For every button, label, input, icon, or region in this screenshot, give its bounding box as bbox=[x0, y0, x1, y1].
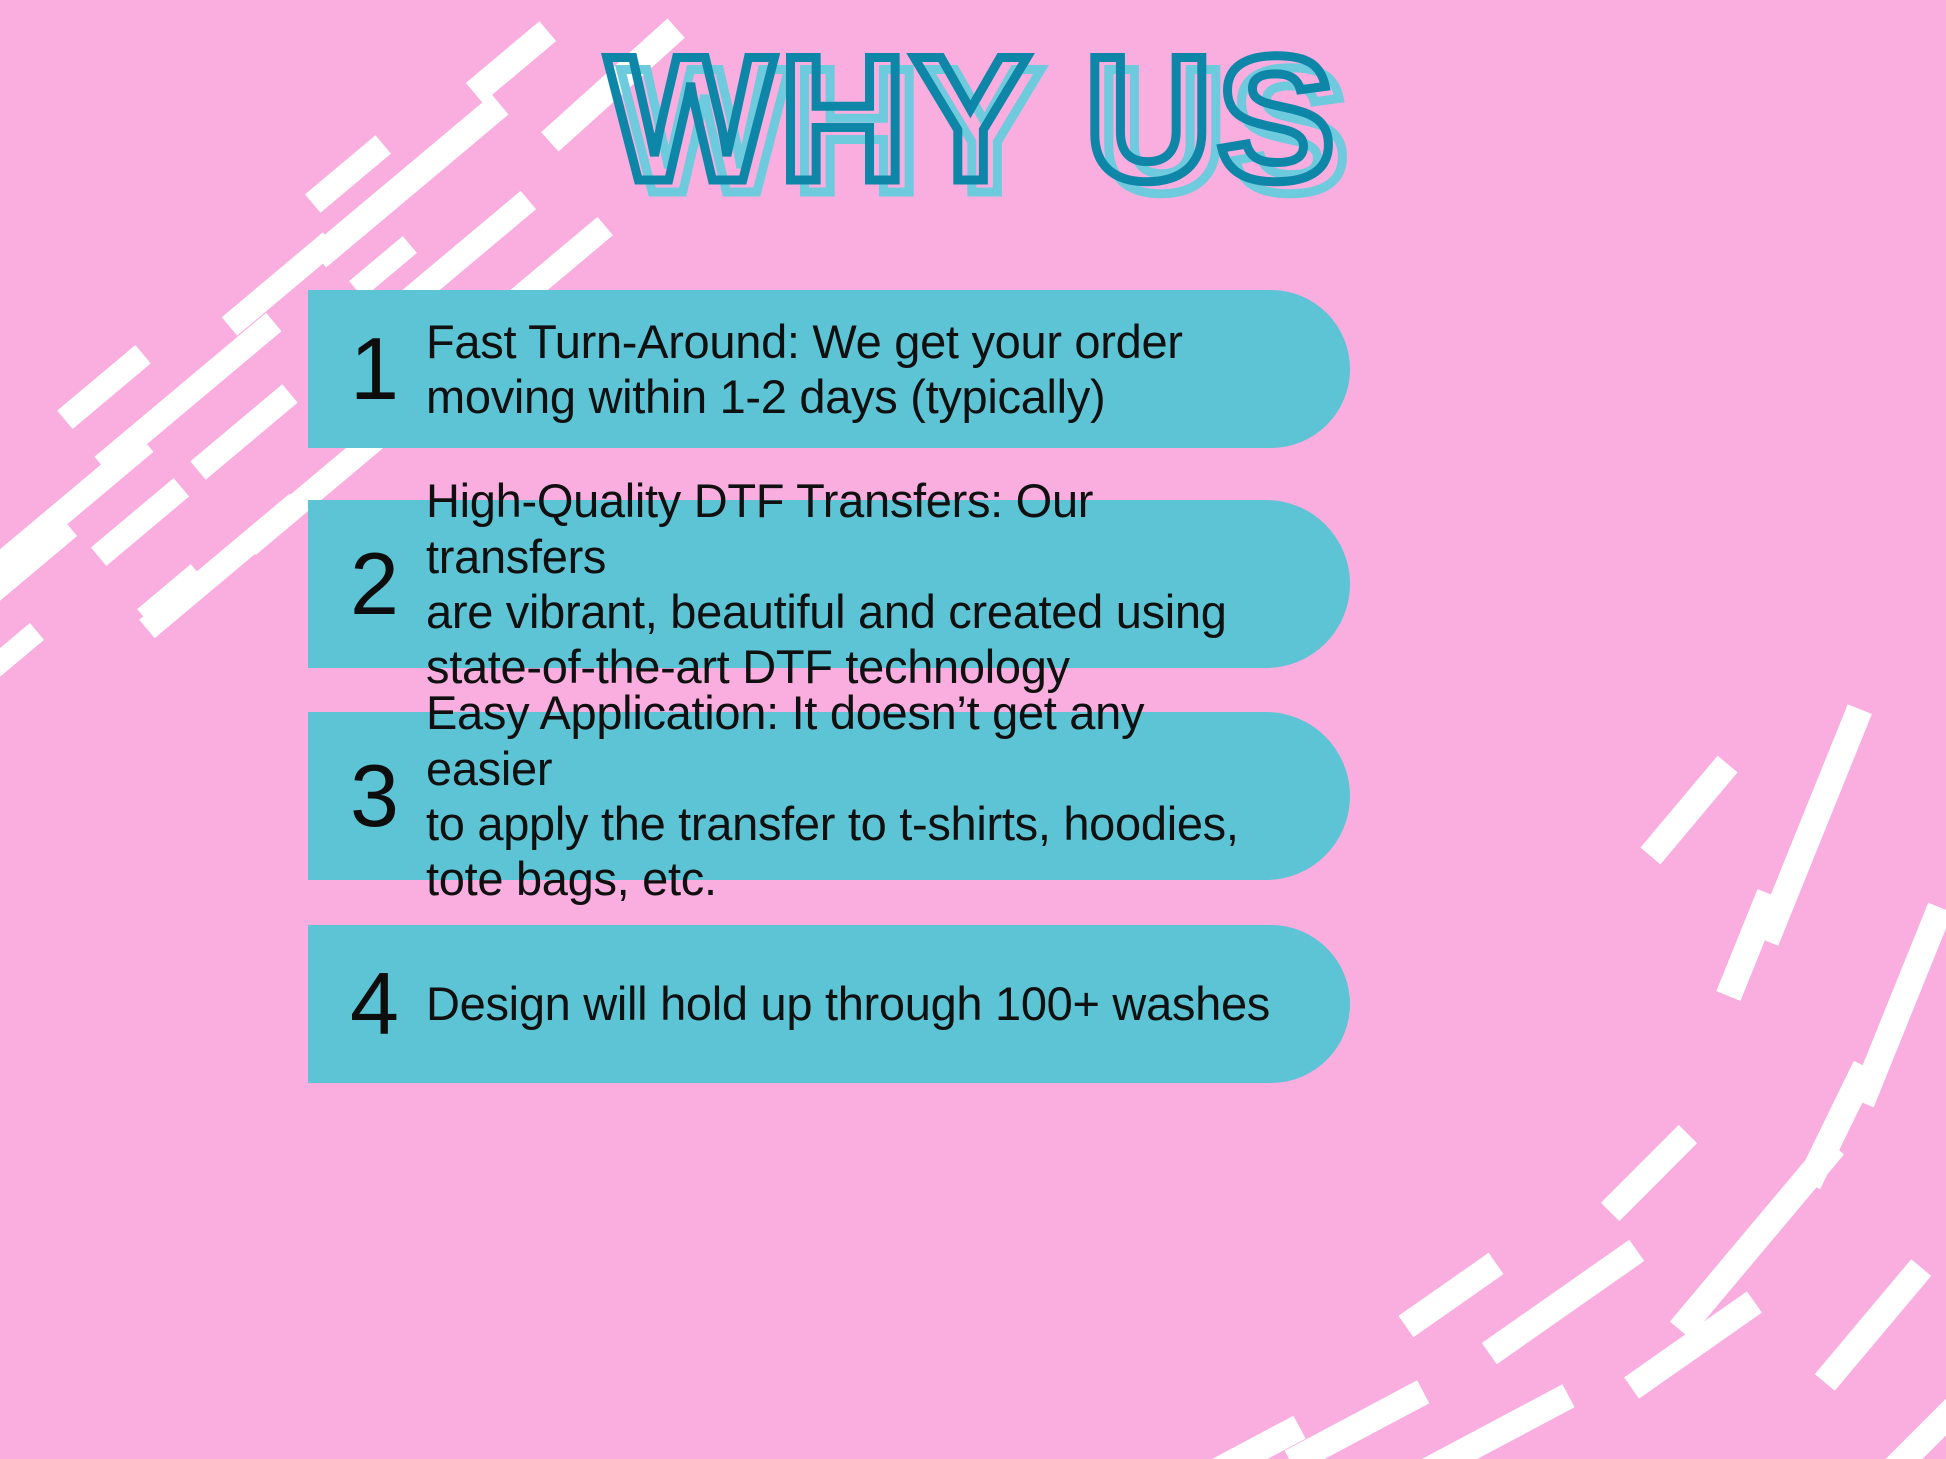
benefit-card-4[interactable]: 4 Design will hold up through 100+ washe… bbox=[308, 925, 1350, 1083]
benefit-number: 4 bbox=[350, 964, 426, 1043]
page-title: WHY US WHY US bbox=[0, 28, 1946, 228]
benefit-text: Design will hold up through 100+ washes bbox=[426, 976, 1270, 1031]
benefit-text: Fast Turn-Around: We get your order movi… bbox=[426, 314, 1183, 425]
benefit-card-1[interactable]: 1 Fast Turn-Around: We get your order mo… bbox=[308, 290, 1350, 448]
benefit-number: 2 bbox=[350, 544, 426, 623]
benefit-card-2[interactable]: 2 High-Quality DTF Transfers: Our transf… bbox=[308, 500, 1350, 668]
benefit-card-3[interactable]: 3 Easy Application: It doesn’t get any e… bbox=[308, 712, 1350, 880]
benefit-number: 1 bbox=[350, 329, 426, 408]
benefit-number: 3 bbox=[350, 756, 426, 835]
page-title-outline: WHY US bbox=[607, 28, 1340, 218]
benefit-text: High-Quality DTF Transfers: Our transfer… bbox=[426, 473, 1280, 695]
benefit-text: Easy Application: It doesn’t get any eas… bbox=[426, 685, 1280, 907]
